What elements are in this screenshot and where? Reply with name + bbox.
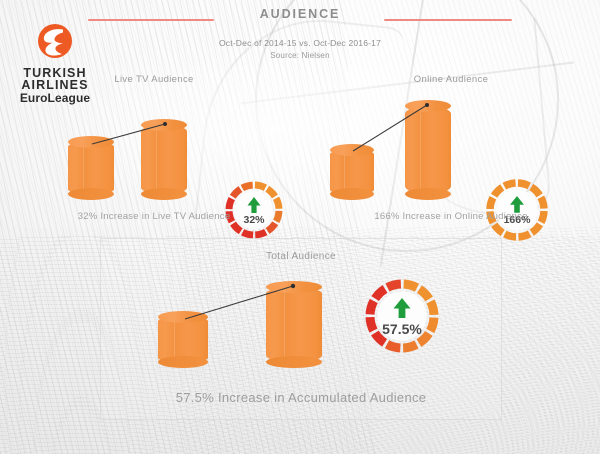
panel-live-tv-audience: Live TV Audience [10, 66, 298, 228]
panel-total-audience: Total Audience [100, 238, 502, 420]
infographic-canvas: AUDIENCE Oct-Dec of 2014-15 vs. Oct-Dec … [0, 0, 600, 454]
caption-total: 57.5% Increase in Accumulated Audience [101, 390, 501, 405]
gauge-online: 166% [485, 178, 549, 242]
trend-arrow-online [310, 66, 592, 228]
euroleague-mark-icon [30, 16, 80, 66]
gauge-live-tv: 32% [225, 181, 283, 239]
gauge-total: 57.5% [363, 277, 441, 355]
caption-live-tv: 32% Increase in Live TV Audience [10, 211, 298, 222]
caption-online: 166% Increase in Online Audience [310, 211, 592, 222]
panel-online-audience: Online Audience [310, 66, 592, 228]
gauge-label-total: 57.5% [363, 321, 441, 337]
